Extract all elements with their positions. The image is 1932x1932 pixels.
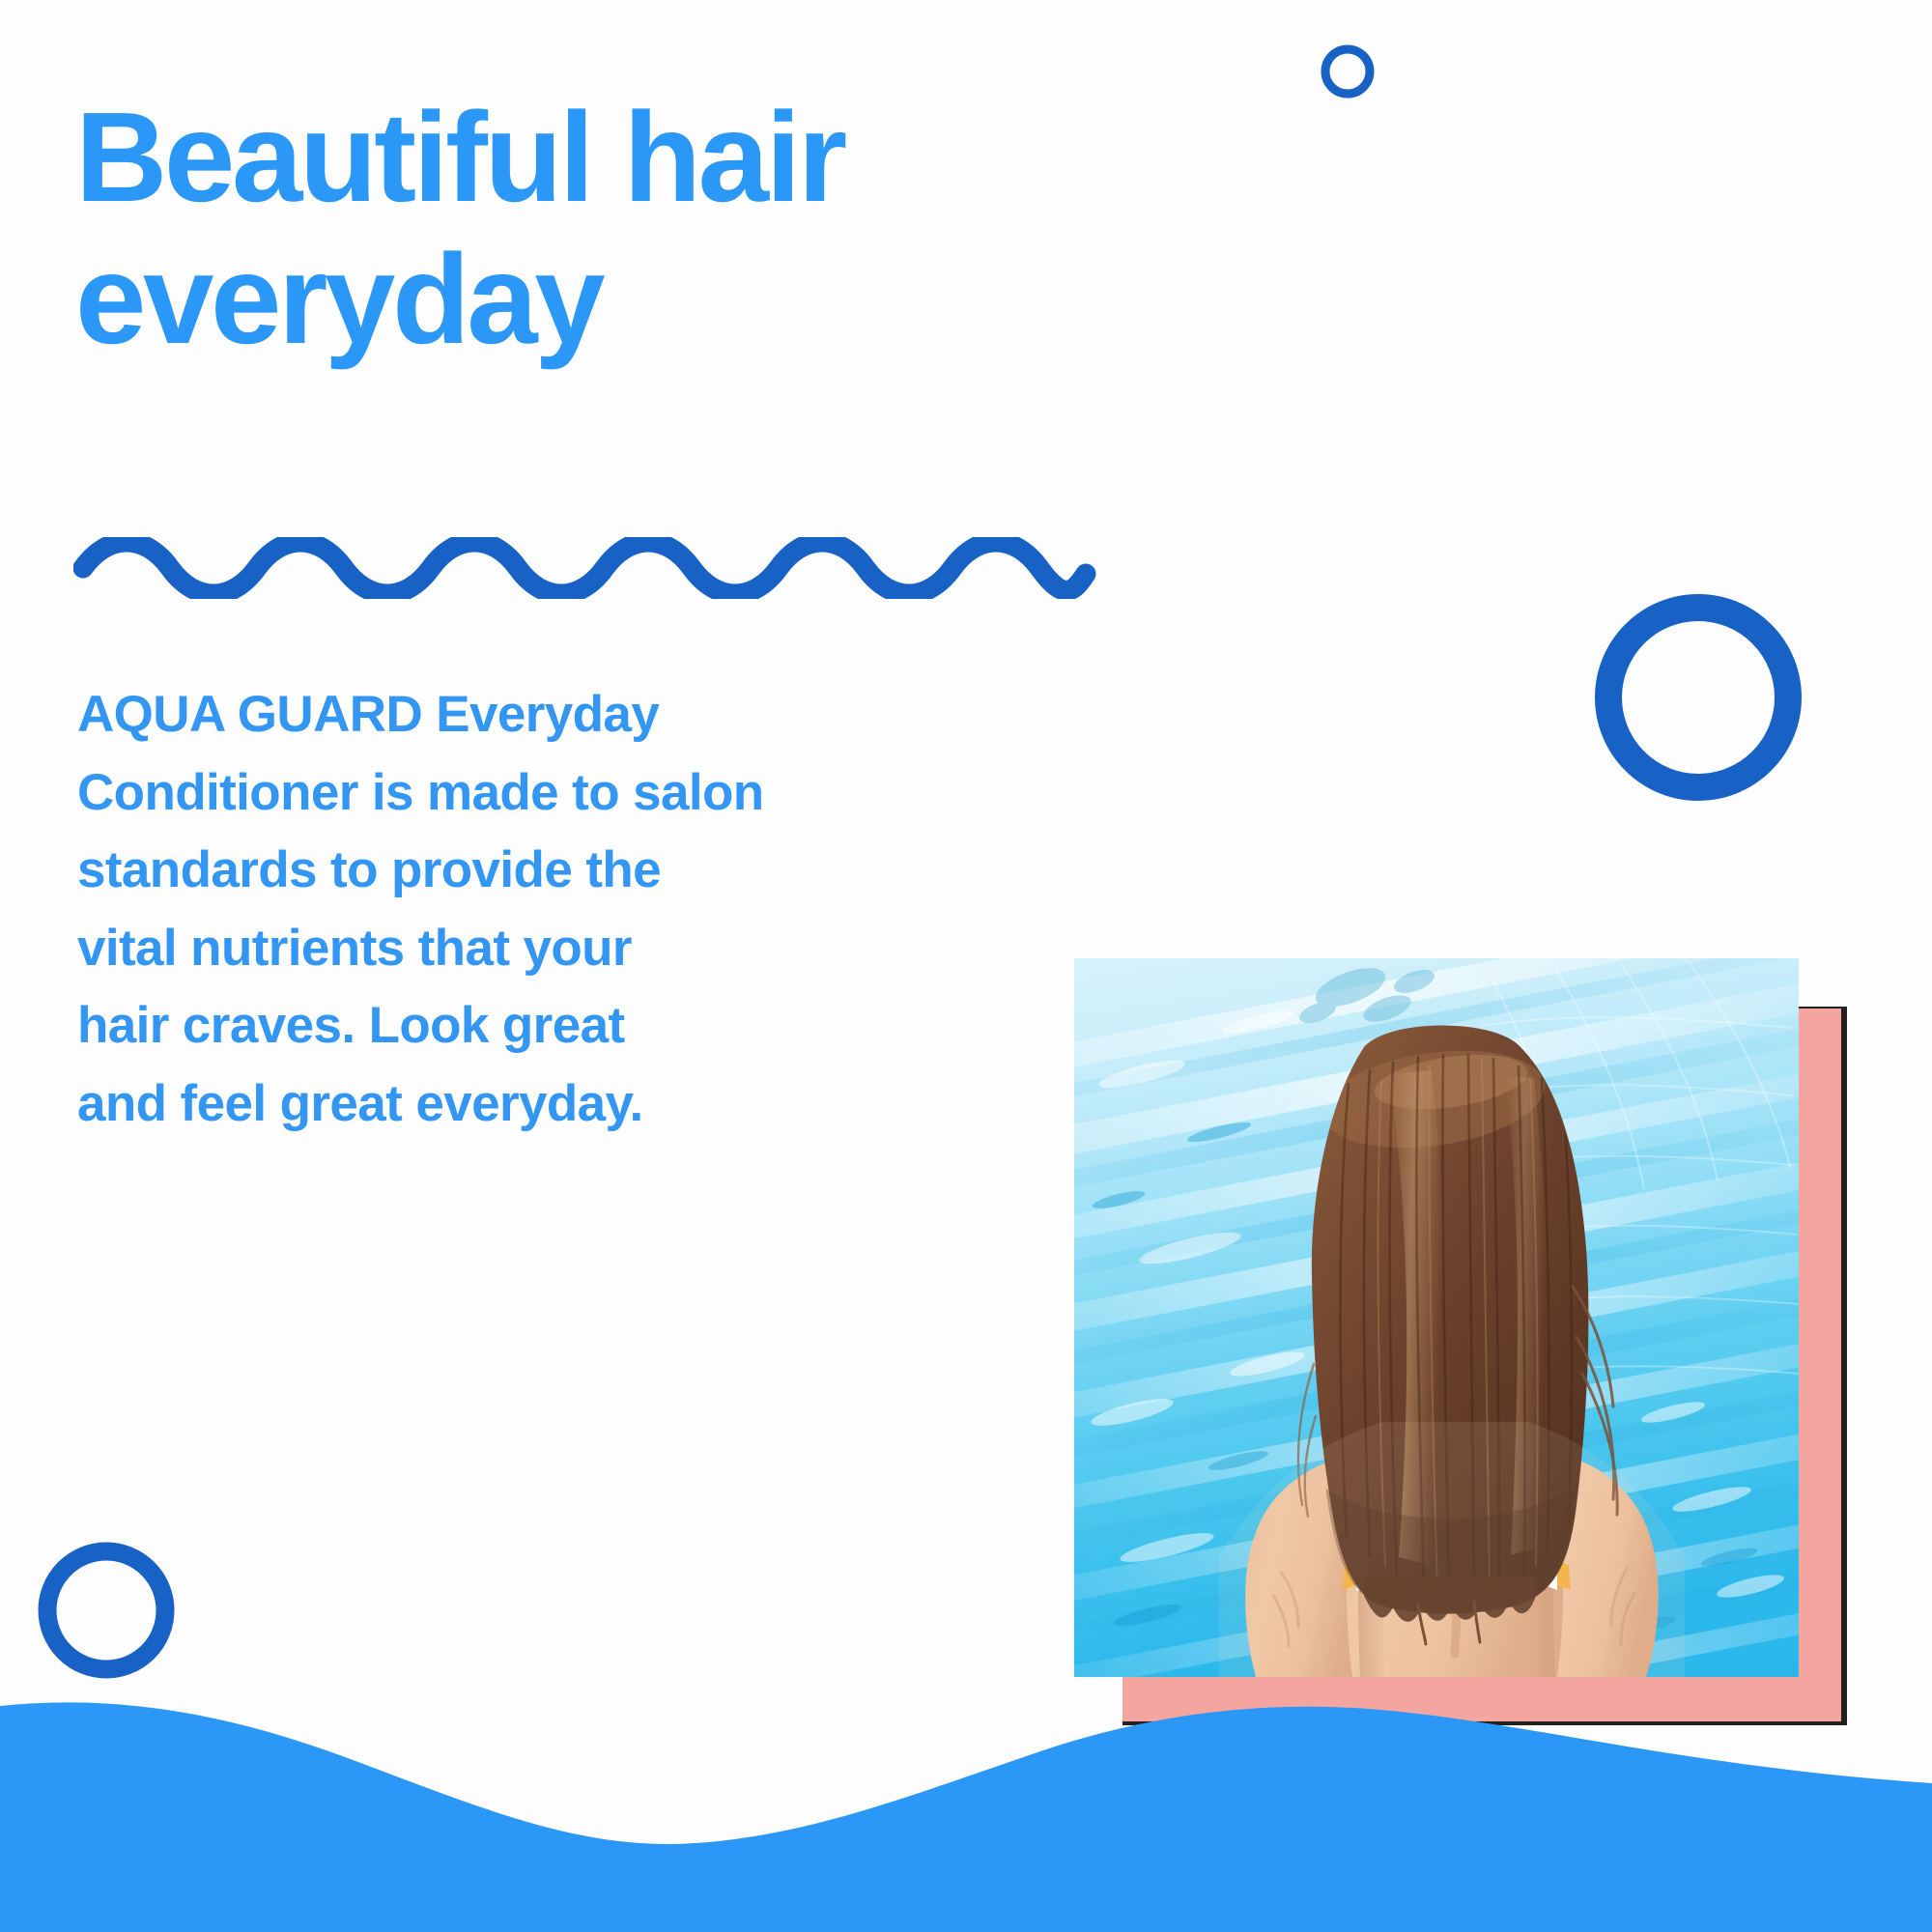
- ring-outline-large-icon: [1608, 608, 1788, 787]
- photo-image: [1074, 958, 1799, 1677]
- headline-block: Beautiful hair everyday: [75, 87, 1167, 370]
- ring-outline-small-icon: [1325, 49, 1370, 94]
- pool-photo-illustration: [1074, 958, 1799, 1677]
- body-paragraph: AQUA GUARD Everyday Conditioner is made …: [77, 676, 1140, 1143]
- poster-canvas: Beautiful hair everyday AQUA GUARD Every…: [0, 0, 1932, 1932]
- wavy-line-divider-icon: [73, 537, 1097, 599]
- product-photo-card: [1074, 958, 1799, 1677]
- ring-outline-medium-icon: [47, 1551, 165, 1669]
- page-title: Beautiful hair everyday: [75, 87, 1099, 370]
